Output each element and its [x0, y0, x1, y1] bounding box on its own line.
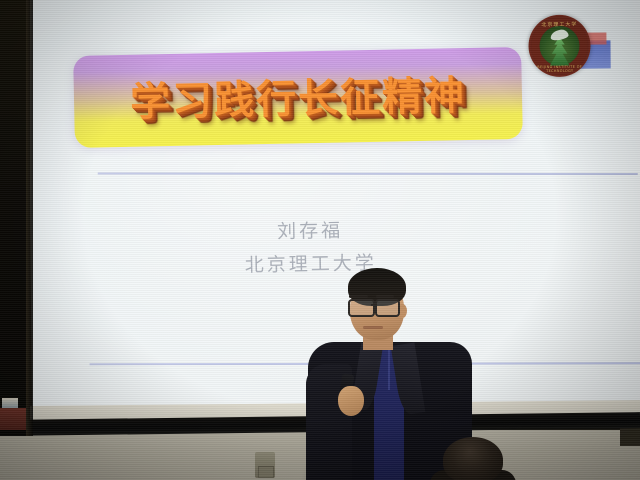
left-shelf-object-top: [2, 398, 18, 408]
emblem-chinese-text: 北京理工大学: [528, 21, 590, 29]
slide-title: 学习践行长征精神: [73, 45, 523, 146]
slide-title-box: 学习践行长征精神: [73, 47, 523, 148]
emblem-english-text: BEIJING INSTITUTE OF TECHNOLOGY: [529, 65, 591, 74]
presenter-mouth: [363, 326, 383, 329]
bit-university-emblem-icon: 北京理工大学 BEIJING INSTITUTE OF TECHNOLOGY: [528, 15, 591, 78]
wall-bracket-fixture: [255, 452, 275, 478]
audience-member-head: [443, 437, 503, 480]
glasses-bridge: [371, 304, 377, 306]
photo-scene: 北京理工大学 BEIJING INSTITUTE OF TECHNOLOGY 学…: [0, 0, 640, 480]
presenter-eyebrow-right: [376, 295, 394, 298]
left-shelf-object: [0, 408, 26, 430]
glasses-lens-left-icon: [348, 299, 375, 317]
presenter-hand: [338, 386, 364, 416]
presenter-zipper: [388, 350, 390, 390]
presenter-eyebrow-left: [349, 295, 368, 298]
left-wall-edge: [26, 0, 33, 436]
glasses-lens-right-icon: [375, 299, 400, 317]
slide-middle-divider-line: [98, 173, 638, 175]
